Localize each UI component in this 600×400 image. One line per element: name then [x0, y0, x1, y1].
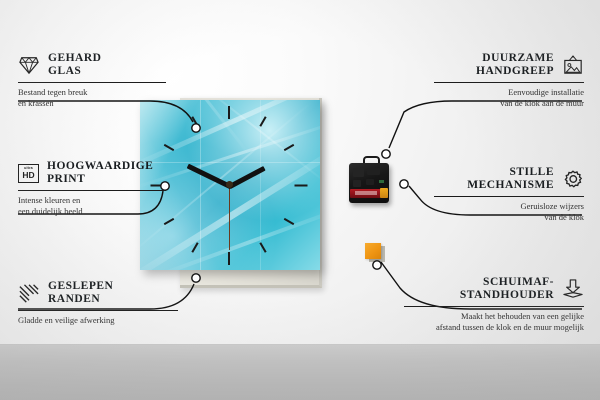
feature-desc-line2: en krassen: [18, 98, 166, 109]
feature-divider: [18, 82, 166, 83]
feature-desc-line1: Gladde en veilige afwerking: [18, 315, 178, 326]
feature-title-line2: STANDHOUDER: [460, 289, 554, 302]
feature-title-line1: DUURZAME: [476, 52, 554, 65]
feature-desc-line2: van de klok aan de muur: [434, 98, 584, 109]
infographic-canvas: GEHARD GLAS Bestand tegen breuk en krass…: [0, 0, 600, 400]
anchor-point-5: [400, 180, 408, 188]
anchor-point-4: [382, 150, 390, 158]
feature-desc-line2: afstand tussen de klok en de muur mogeli…: [404, 322, 584, 333]
feature-title-line2: RANDEN: [48, 293, 113, 306]
feature-duurzame-handgreep: DUURZAME HANDGREEP Eenvoudige installati…: [434, 52, 584, 108]
hanging-picture-frame-icon: [562, 55, 584, 75]
feature-desc-line2: van de klok: [434, 212, 584, 223]
ultra-hd-icon-big-label: HD: [22, 171, 34, 180]
feature-divider: [18, 190, 166, 191]
feature-desc-line1: Eenvoudige installatie: [434, 87, 584, 98]
feature-desc-line2: een duidelijk beeld: [18, 206, 166, 217]
feature-geslepen-randen: GESLEPEN RANDEN Gladde en veilige afwerk…: [18, 280, 178, 326]
arrow-down-pad-icon: [562, 279, 584, 299]
diagonal-lines-icon: [18, 283, 40, 303]
feature-title-line1: SCHUIMAF-: [460, 276, 554, 289]
feature-desc-line1: Maakt het behouden van een gelijke: [404, 311, 584, 322]
feature-title-line2: MECHANISME: [467, 179, 554, 192]
feature-title-line2: GLAS: [48, 65, 101, 78]
diamond-icon: [18, 55, 40, 75]
feature-desc-line1: Intense kleuren en: [18, 195, 166, 206]
connector-line-4: [389, 101, 582, 148]
feature-desc-line1: Geruisloze wijzers: [434, 201, 584, 212]
feature-divider: [18, 310, 178, 311]
feature-schuimafstandhouder: SCHUIMAF- STANDHOUDER Maakt het behouden…: [404, 276, 584, 332]
feature-gehard-glas: GEHARD GLAS Bestand tegen breuk en krass…: [18, 52, 166, 108]
feature-title-line1: HOOGWAARDIGE: [47, 160, 153, 173]
feature-divider: [434, 196, 584, 197]
feature-title-line2: PRINT: [47, 173, 153, 186]
anchor-point-3: [192, 274, 200, 282]
feature-hoogwaardige-print: ultra HD HOOGWAARDIGE PRINT Intense kleu…: [18, 160, 166, 216]
feature-title-line2: HANDGREEP: [476, 65, 554, 78]
feature-desc-line1: Bestand tegen breuk: [18, 87, 166, 98]
feature-title-line1: GESLEPEN: [48, 280, 113, 293]
anchor-point-6: [373, 261, 381, 269]
feature-divider: [434, 82, 584, 83]
feature-title-line1: STILLE: [467, 166, 554, 179]
feature-divider: [404, 306, 584, 307]
ultra-hd-icon: ultra HD: [18, 164, 39, 183]
feature-stille-mechanisme: STILLE MECHANISME Geruisloze wijzers van…: [434, 166, 584, 222]
feature-title-line1: GEHARD: [48, 52, 101, 65]
anchor-point-1: [192, 124, 200, 132]
gear-icon: [562, 169, 584, 189]
